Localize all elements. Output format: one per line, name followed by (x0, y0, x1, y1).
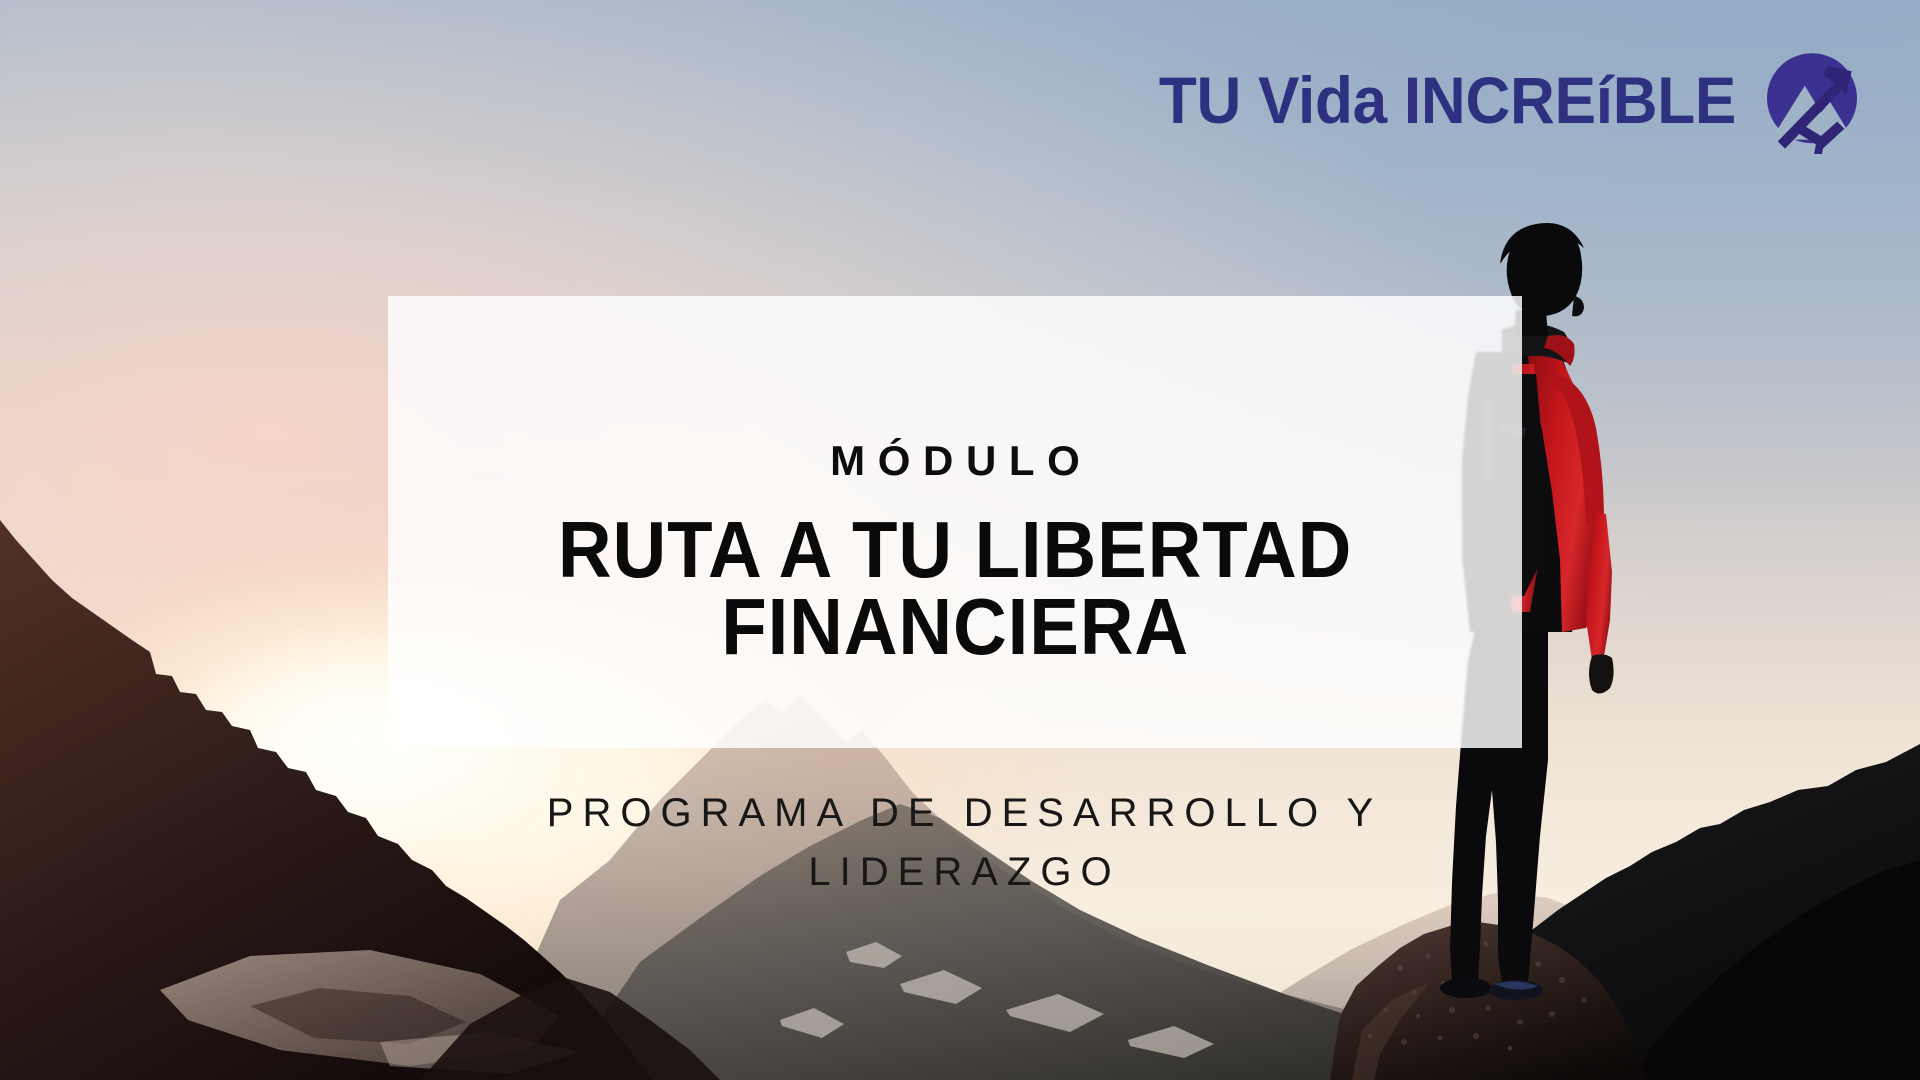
slide-canvas: MÓDULO RUTA A TU LIBERTAD FINANCIERA PRO… (0, 0, 1920, 1080)
brand-name: TU Vida INCREíBLE (1159, 67, 1736, 133)
program-subtitle: PROGRAMA DE DESARROLLO Y LIDERAZGO (430, 784, 1490, 902)
program-subtitle-line-1: PROGRAMA DE DESARROLLO Y (430, 784, 1490, 843)
title-card-text: MÓDULO RUTA A TU LIBERTAD FINANCIERA (388, 296, 1522, 748)
module-title-line-2: FINANCIERA (558, 589, 1352, 666)
module-eyebrow-label: MÓDULO (818, 440, 1093, 482)
mountain-arrow-logo-icon (1758, 46, 1866, 154)
module-title: RUTA A TU LIBERTAD FINANCIERA (558, 512, 1352, 666)
module-title-line-1: RUTA A TU LIBERTAD (558, 512, 1352, 589)
brand-lockup[interactable]: TU Vida INCREíBLE (1122, 46, 1866, 154)
program-subtitle-line-2: LIDERAZGO (430, 843, 1490, 902)
